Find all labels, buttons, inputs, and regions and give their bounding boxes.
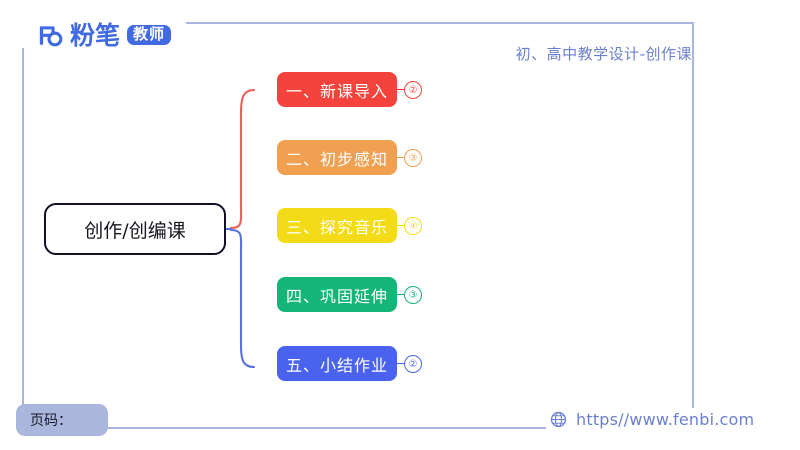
step-card-label: 一、新课导入 <box>286 78 388 102</box>
mindmap-root-label: 创作/创编课 <box>84 216 185 243</box>
page-number-label: 页码： <box>30 410 72 430</box>
step-card[interactable]: 五、小结作业 <box>277 346 397 381</box>
step-card[interactable]: 二、初步感知 <box>277 140 397 175</box>
frame-border-right <box>692 22 694 428</box>
site-url[interactable]: https//www.fenbi.com <box>546 408 762 431</box>
step-badge: ④ <box>404 217 422 235</box>
step-card-label: 二、初步感知 <box>286 146 388 170</box>
step-card[interactable]: 四、巩固延伸 <box>277 277 397 312</box>
globe-icon <box>550 411 567 428</box>
step-badge: ③ <box>404 286 422 304</box>
deck-title: 初、高中教学设计-创作课 <box>516 43 692 64</box>
mindmap-root-node[interactable]: 创作/创编课 <box>44 203 226 255</box>
step-badge: ③ <box>404 149 422 167</box>
step-badge: ② <box>404 355 422 373</box>
logo-wordmark: 粉笔 <box>70 23 120 48</box>
site-url-text: https//www.fenbi.com <box>576 410 754 429</box>
frame-border-left <box>22 48 24 428</box>
logo-badge-teacher: 教师 <box>127 25 171 46</box>
step-card[interactable]: 一、新课导入 <box>277 72 397 107</box>
branch-line-down <box>231 230 254 367</box>
step-card[interactable]: 三、探究音乐 <box>277 208 397 243</box>
fenbi-logo-icon <box>36 22 63 49</box>
brand-logo: 粉笔 教师 <box>36 20 171 50</box>
page-number-pill[interactable]: 页码： <box>16 404 108 436</box>
step-card-label: 四、巩固延伸 <box>286 283 388 307</box>
step-card-label: 五、小结作业 <box>286 352 388 376</box>
frame-border-top <box>186 22 694 24</box>
branch-line-up <box>231 90 254 228</box>
step-card-label: 三、探究音乐 <box>286 214 388 238</box>
slide-canvas: 粉笔 教师 初、高中教学设计-创作课 创作/创编课 一、新课导入②二、初步感知③… <box>0 0 800 450</box>
step-badge: ② <box>404 81 422 99</box>
